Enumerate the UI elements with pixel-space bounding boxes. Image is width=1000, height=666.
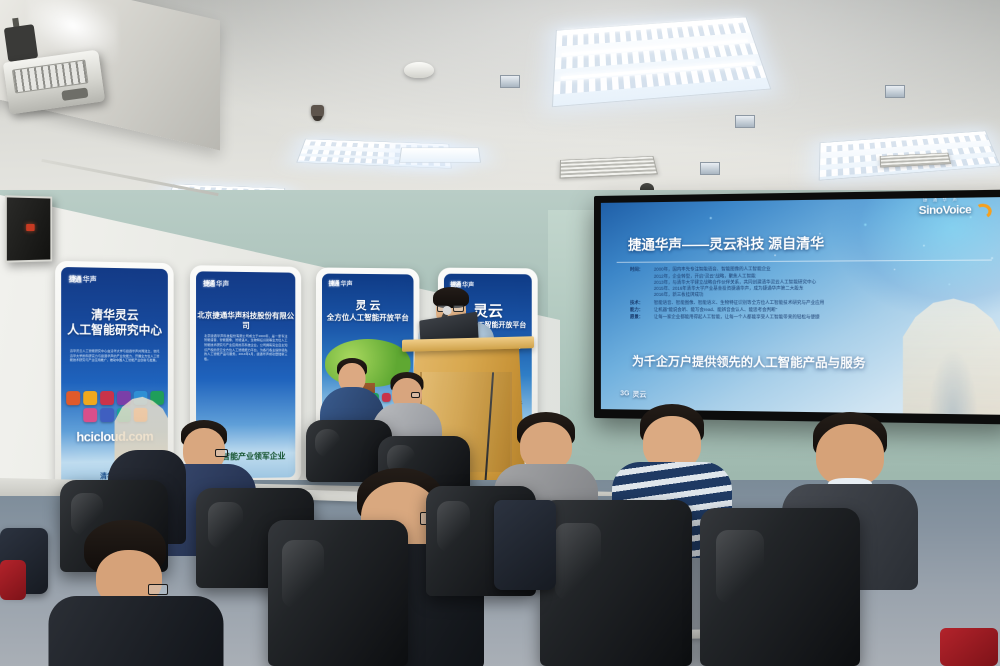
banner-title-line1: 灵 云 [322,299,413,313]
sprinkler-head-icon [311,105,324,120]
conference-room-photo: 捷通 华声 清华灵云 人工智能研究中心 清华灵云人工智能研究中心由清华大学与捷通… [0,0,1000,666]
banner-logo-cn: 华声 [83,274,97,284]
slide-row-value: 2000年，国内率先专注智能语音、智能图像的人工智能企业 [654,266,771,273]
projector-mount [4,24,38,62]
app-icon [83,408,97,422]
banner-title: 灵 云 全方位人工智能开放平台 [322,299,413,323]
banner-logo: 捷通 华声 [328,279,352,288]
red-bag [0,560,26,600]
banner-title-line1: 北京捷通华声科技股份有限公司 [196,311,295,330]
banner-logo-mark: 捷通 [203,278,214,288]
red-bag [940,628,998,666]
slide-row-value: 2016年，新三板挂牌成功 [630,291,992,298]
banner-logo-cn: 华声 [341,279,353,288]
sinovoice-logo: 捷 通 华 声 SinoVoice [919,204,992,220]
chair [268,520,408,666]
banner-title: 北京捷通华声科技股份有限公司 [196,311,295,330]
slide-row-value: 智能语音、智能图像、智能语义、生物特征识别等全方位人工智能技术研究与产业应用 [654,300,824,306]
person-torso [48,596,223,666]
app-icon [66,391,80,405]
smoke-detector-icon [404,62,434,78]
person-head [816,424,884,486]
wall-speaker [5,195,52,262]
glasses-icon [215,449,228,457]
slide-footer-logo-mark: 3G [620,391,629,398]
slide-footer-logo-cn: 灵云 [632,389,646,399]
ceiling-fixture [700,162,720,175]
projector-lens-icon [61,87,88,101]
banner-logo-cn: 华声 [216,278,229,288]
app-icon [100,391,114,405]
ceiling-fixture [500,75,520,88]
slide-row-key: 愿景： [630,314,654,320]
chair [700,508,860,666]
signal-arc-icon [973,202,993,220]
audience-front-left [48,520,223,666]
slide-tagline: 为千企万户提供领先的人工智能产品与服务 [632,353,865,372]
slide-row-value: 让每一家企业都能用得起人工智能，让每一个人都能享受人工智能带来的轻松与便捷 [654,314,820,320]
backpack [494,500,556,590]
presentation-slide: 捷 通 华 声 SinoVoice 捷通华声——灵云科技 源自清华 时间： 20… [601,197,1000,415]
chair [540,500,692,666]
banner-logo-mark: 捷通 [328,279,338,288]
banner-logo: 捷通 华声 [203,278,229,288]
slide-row-key: 时间： [630,267,654,273]
slide-row-key: 技术： [630,300,654,306]
banner-logo-mark: 捷通 [69,274,81,284]
speaker-led-icon [26,224,34,231]
banner-title-line2: 全方位人工智能开放平台 [322,313,413,323]
app-icon [100,408,114,422]
sinovoice-logo-text: SinoVoice [919,204,972,217]
banner-body: 清华灵云人工智能研究中心由清华大学与捷通华声共同建立，依托清华大学的科研实力与捷… [70,349,160,363]
banner-title-line1: 清华灵云 [61,307,168,323]
banner-title-line2: 人工智能研究中心 [61,322,168,338]
slide-row-value: 让机器“能说会听、能写会read、能辨音会认人、能思考会判断” [654,307,777,313]
slide-footer-logo: 3G 灵云 [620,389,646,399]
app-icon [83,391,97,405]
ceiling-fixture [735,115,755,128]
ceiling-fixture [885,85,905,98]
slide-row-key: 能力： [630,307,654,313]
slide-title: 捷通华声——灵云科技 源自清华 [628,232,824,254]
sinovoice-logo-cn: 捷 通 华 声 [923,197,959,204]
light-panel [399,148,481,163]
projection-screen: 捷 通 华 声 SinoVoice 捷通华声——灵云科技 源自清华 时间： 20… [594,189,1000,424]
glasses-icon [148,584,168,595]
banner-logo: 捷通 华声 [69,274,97,285]
person-head [520,422,572,470]
banner-title: 清华灵云 人工智能研究中心 [61,307,168,338]
slide-row: 时间： 2000年，国内率先专注智能语音、智能图像的人工智能企业 [630,265,992,273]
banner-body: 北京捷通华声科技股份有限公司成立于2000年，是一家专注智能语音、智能图像、智能… [204,334,287,362]
glasses-icon [411,392,420,398]
